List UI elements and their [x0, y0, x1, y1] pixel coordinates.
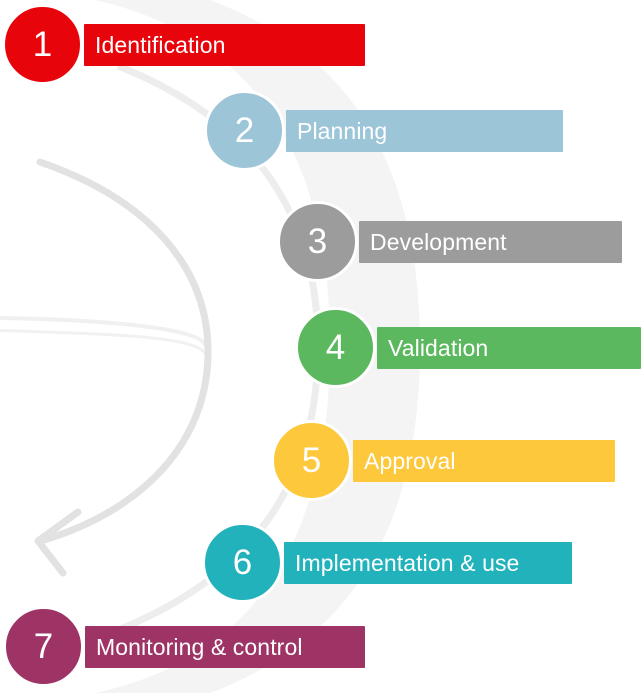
- step-number-7: 7: [3, 606, 84, 687]
- step-label-1: Identification: [95, 24, 226, 66]
- step-label-3: Development: [370, 221, 507, 263]
- step-number-2: 2: [204, 90, 285, 171]
- step-number-4: 4: [295, 307, 376, 388]
- process-cycle-diagram: Identification 1 Planning 2 Development …: [0, 0, 641, 693]
- step-label-2: Planning: [297, 110, 387, 152]
- step-number-3: 3: [277, 201, 358, 282]
- step-label-7: Monitoring & control: [96, 626, 303, 668]
- step-label-6: Implementation & use: [295, 542, 519, 584]
- step-label-4: Validation: [388, 327, 488, 369]
- step-label-5: Approval: [364, 440, 456, 482]
- step-number-6: 6: [202, 522, 283, 603]
- step-number-5: 5: [271, 420, 352, 501]
- step-number-1: 1: [2, 4, 83, 85]
